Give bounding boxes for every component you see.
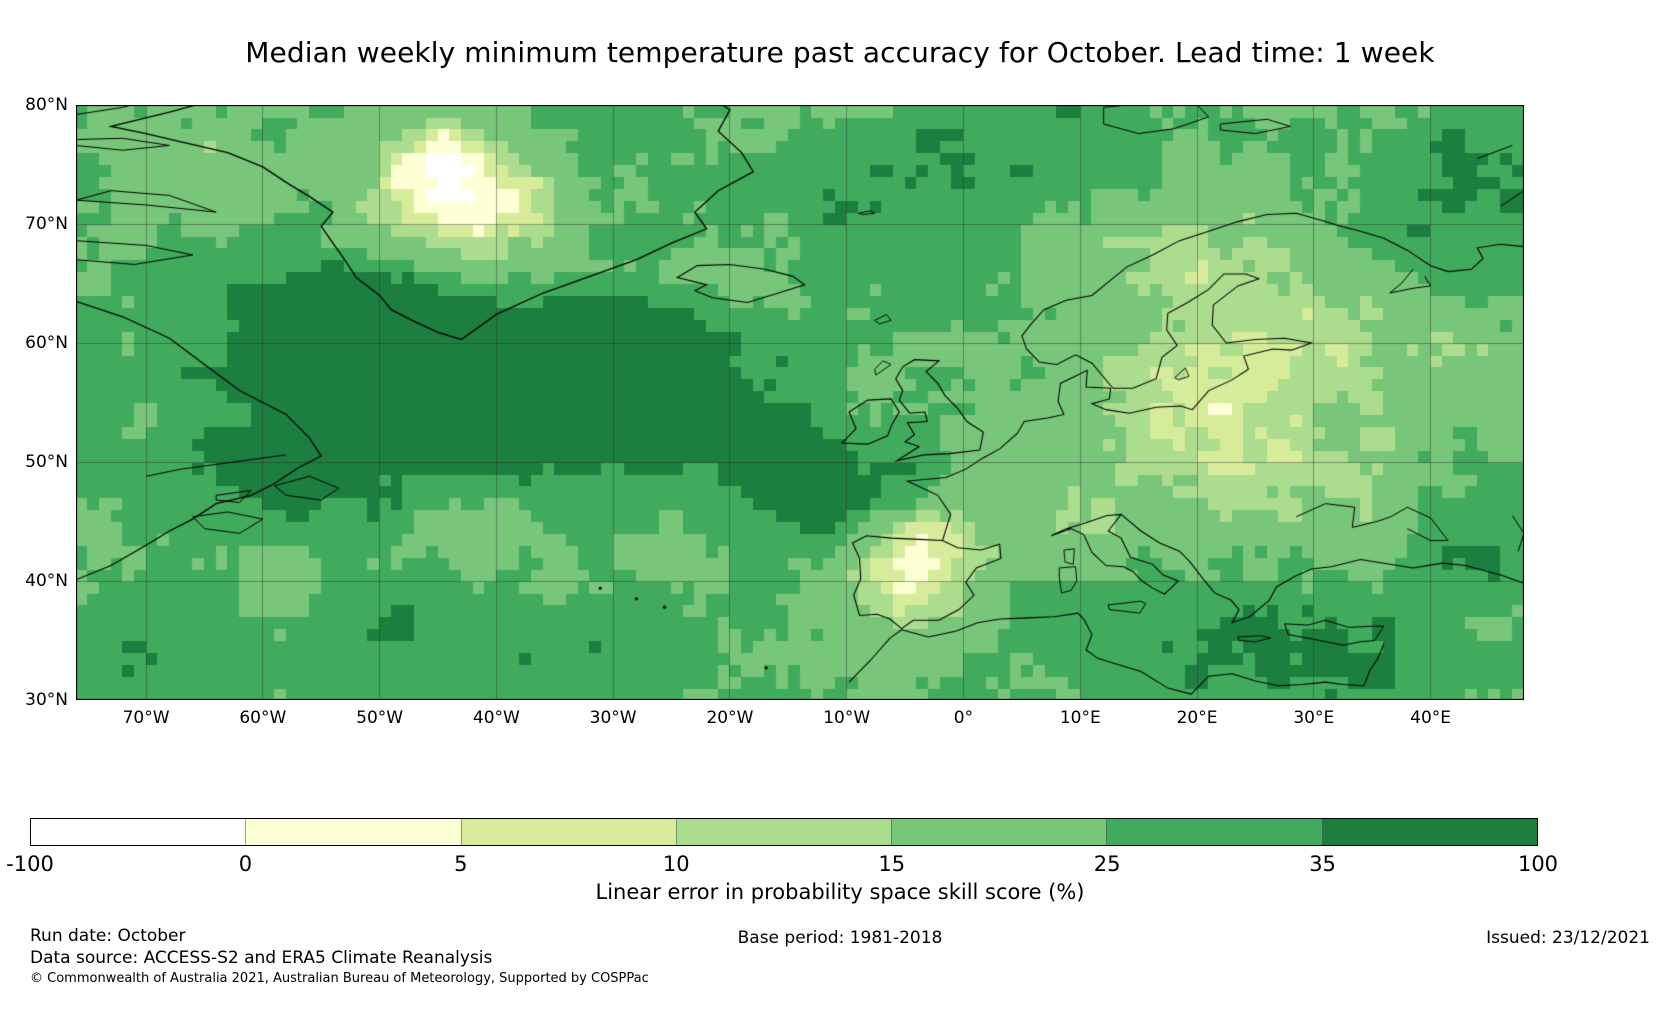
colorbar-segment-4: [891, 819, 1106, 845]
latitude-tick-label: 70°N: [25, 214, 68, 234]
longitude-tick-label: 70°W: [123, 708, 170, 728]
copyright-text: © Commonwealth of Australia 2021, Austra…: [30, 969, 790, 988]
colorbar-tick-label: 10: [663, 852, 690, 876]
colorbar-segment-5: [1106, 819, 1321, 845]
longitude-tick-label: 30°E: [1293, 708, 1334, 728]
colorbar-tick-label: 100: [1518, 852, 1558, 876]
colorbar: [30, 818, 1538, 846]
colorbar-tick-label: 15: [878, 852, 905, 876]
colorbar-tick-label: 25: [1094, 852, 1121, 876]
longitude-tick-label: 40°E: [1410, 708, 1451, 728]
colorbar-segment-6: [1322, 819, 1537, 845]
longitude-tick-label: 50°W: [356, 708, 403, 728]
longitude-tick-label: 60°W: [239, 708, 286, 728]
latitude-tick-label: 60°N: [25, 333, 68, 353]
colorbar-segment-1: [245, 819, 460, 845]
longitude-tick-label: 0°: [954, 708, 973, 728]
longitude-tick-label: 20°E: [1177, 708, 1218, 728]
latitude-tick-label: 30°N: [25, 690, 68, 710]
latitude-tick-label: 50°N: [25, 452, 68, 472]
data-source-text: Data source: ACCESS-S2 and ERA5 Climate …: [30, 947, 790, 969]
skill-score-heatmap: [76, 105, 1524, 700]
colorbar-tick-label: 35: [1309, 852, 1336, 876]
colorbar-segment-3: [676, 819, 891, 845]
longitude-tick-label: 30°W: [590, 708, 637, 728]
colorbar-tick-label: 5: [454, 852, 467, 876]
colorbar-label: Linear error in probability space skill …: [0, 880, 1680, 904]
latitude-tick-label: 40°N: [25, 571, 68, 591]
base-period-text: Base period: 1981-2018: [0, 928, 1680, 948]
latitude-tick-label: 80°N: [25, 95, 68, 115]
issued-date-text: Issued: 23/12/2021: [1486, 928, 1650, 948]
longitude-tick-label: 40°W: [473, 708, 520, 728]
map-plot-area: [76, 105, 1524, 700]
colorbar-segment-2: [461, 819, 676, 845]
colorbar-segment-0: [31, 819, 245, 845]
longitude-tick-label: 10°E: [1060, 708, 1101, 728]
page-title: Median weekly minimum temperature past a…: [0, 36, 1680, 69]
colorbar-tick-label: 0: [239, 852, 252, 876]
longitude-tick-label: 20°W: [706, 708, 753, 728]
colorbar-tick-label: -100: [6, 852, 54, 876]
longitude-tick-label: 10°W: [823, 708, 870, 728]
